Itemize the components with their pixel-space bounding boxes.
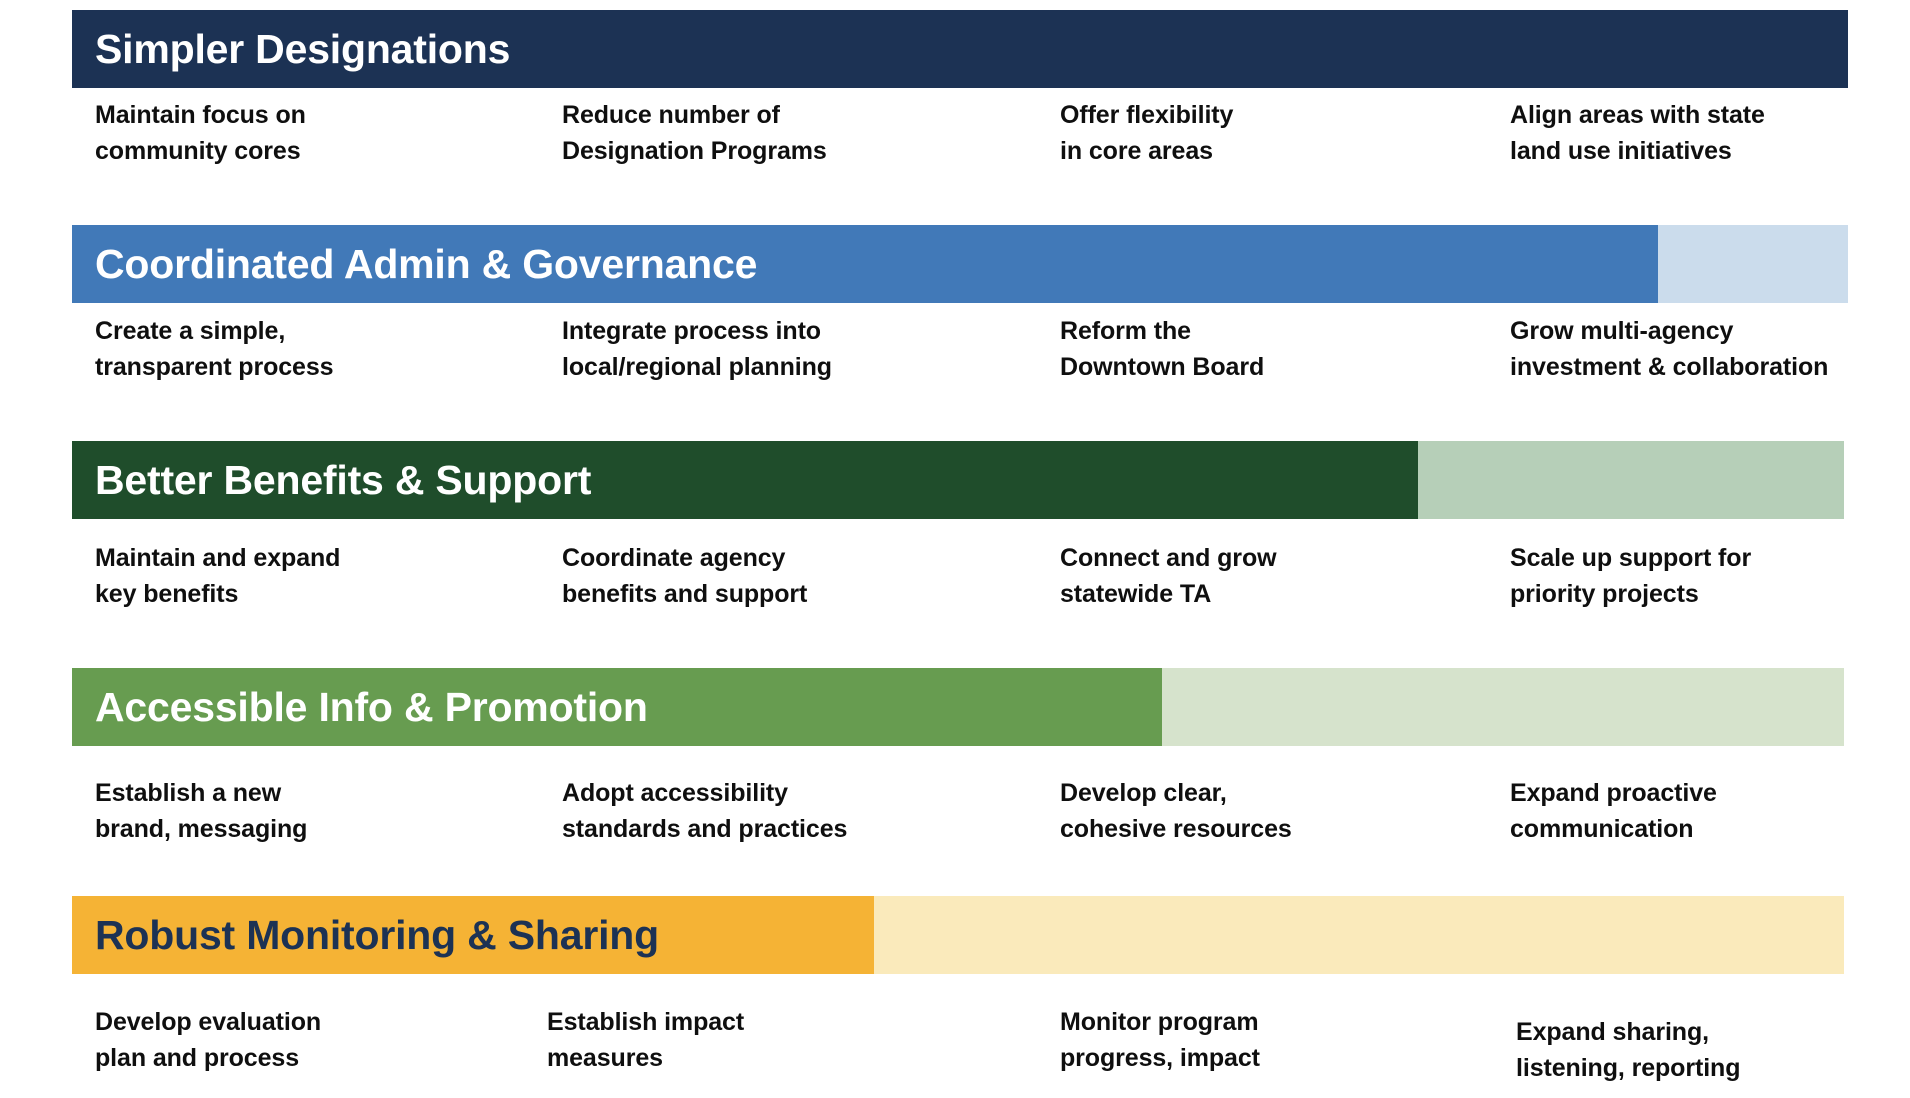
section-title-accessible-info-promotion: Accessible Info & Promotion	[95, 668, 648, 746]
item-accessible-info-promotion-4: Expand proactive communication	[1510, 775, 1717, 847]
item-coordinated-admin-governance-1: Create a simple, transparent process	[95, 313, 333, 385]
item-accessible-info-promotion-1: Establish a new brand, messaging	[95, 775, 307, 847]
item-accessible-info-promotion-3: Develop clear, cohesive resources	[1060, 775, 1292, 847]
section-bar-tail-coordinated-admin-governance	[1658, 225, 1848, 303]
item-simpler-designations-3: Offer flexibility in core areas	[1060, 97, 1233, 169]
section-title-robust-monitoring-sharing: Robust Monitoring & Sharing	[95, 896, 659, 974]
framework-board: Simpler DesignationsMaintain focus on co…	[0, 0, 1910, 1098]
section-title-coordinated-admin-governance: Coordinated Admin & Governance	[95, 225, 757, 303]
item-robust-monitoring-sharing-4: Expand sharing, listening, reporting	[1516, 1014, 1740, 1086]
item-robust-monitoring-sharing-2: Establish impact measures	[547, 1004, 744, 1076]
item-better-benefits-support-3: Connect and grow statewide TA	[1060, 540, 1276, 612]
section-title-better-benefits-support: Better Benefits & Support	[95, 441, 591, 519]
item-coordinated-admin-governance-3: Reform the Downtown Board	[1060, 313, 1264, 385]
section-bar-tail-accessible-info-promotion	[1162, 668, 1844, 746]
section-bar-coordinated-admin-governance: Coordinated Admin & Governance	[72, 225, 1848, 303]
item-coordinated-admin-governance-4: Grow multi-agency investment & collabora…	[1510, 313, 1828, 385]
section-title-simpler-designations: Simpler Designations	[95, 10, 510, 88]
section-bar-simpler-designations: Simpler Designations	[72, 10, 1848, 88]
item-better-benefits-support-2: Coordinate agency benefits and support	[562, 540, 807, 612]
section-bar-better-benefits-support: Better Benefits & Support	[72, 441, 1844, 519]
item-accessible-info-promotion-2: Adopt accessibility standards and practi…	[562, 775, 847, 847]
item-simpler-designations-2: Reduce number of Designation Programs	[562, 97, 827, 169]
section-bar-tail-robust-monitoring-sharing	[874, 896, 1844, 974]
item-coordinated-admin-governance-2: Integrate process into local/regional pl…	[562, 313, 832, 385]
item-simpler-designations-1: Maintain focus on community cores	[95, 97, 306, 169]
section-bar-tail-better-benefits-support	[1418, 441, 1844, 519]
item-simpler-designations-4: Align areas with state land use initiati…	[1510, 97, 1765, 169]
item-robust-monitoring-sharing-3: Monitor program progress, impact	[1060, 1004, 1260, 1076]
section-bar-robust-monitoring-sharing: Robust Monitoring & Sharing	[72, 896, 1844, 974]
section-bar-accessible-info-promotion: Accessible Info & Promotion	[72, 668, 1844, 746]
item-better-benefits-support-1: Maintain and expand key benefits	[95, 540, 340, 612]
item-robust-monitoring-sharing-1: Develop evaluation plan and process	[95, 1004, 321, 1076]
item-better-benefits-support-4: Scale up support for priority projects	[1510, 540, 1751, 612]
